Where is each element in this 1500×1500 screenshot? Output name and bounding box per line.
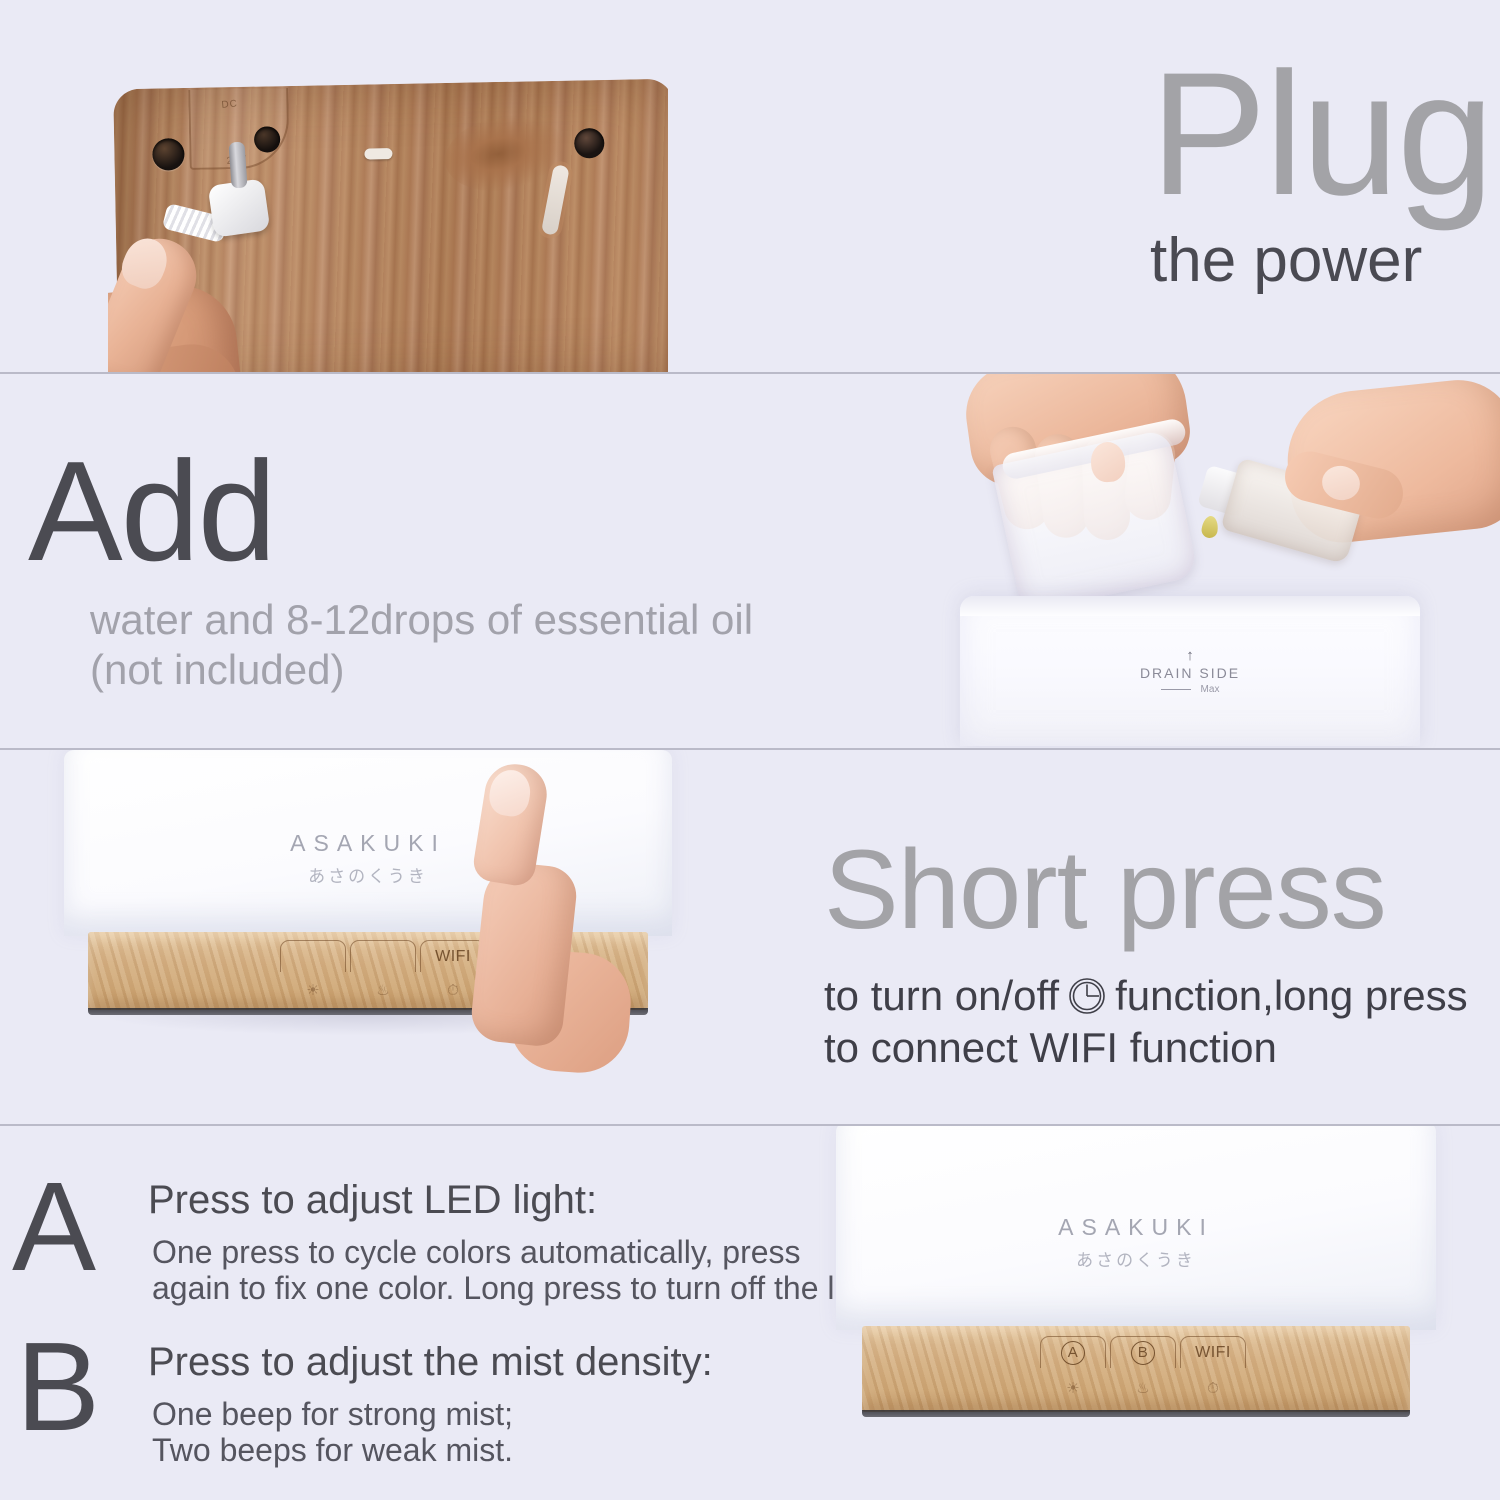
button-a[interactable]: A	[1040, 1336, 1106, 1368]
control-button-row: A B WIFI	[1040, 1336, 1246, 1368]
heading-short-press: Short press	[824, 834, 1386, 946]
heading-add: Add	[28, 448, 275, 576]
text-after-clock-icon: function,long press	[1115, 972, 1468, 1020]
body-led-line-1: One press to cycle colors automatically,…	[152, 1234, 801, 1271]
base-hole-right	[574, 128, 605, 159]
drain-side-marking: ↑ DRAIN SIDE	[960, 648, 1420, 681]
title-adjust-mist-density: Press to adjust the mist density:	[148, 1340, 713, 1385]
up-arrow-icon: ↑	[960, 648, 1420, 663]
body-led-line-2: again to fix one color. Long press to tu…	[152, 1270, 895, 1307]
photo-diffuser-control-panel: ASAKUKI あさのくうき A B WIFI ☀ ♨ ⏱	[836, 1126, 1436, 1452]
base-vent-slot	[364, 148, 392, 160]
finger-pressing-wifi-button	[454, 764, 572, 1064]
product-instruction-infographic: DC 24V Plug the power Add water an	[0, 0, 1500, 1500]
tank-top-bevel	[960, 596, 1420, 616]
board-engraving-dc: DC	[221, 98, 238, 110]
photo-plug-power-adapter: DC 24V	[108, 78, 668, 372]
add-body-line-2: (not included)	[90, 646, 344, 694]
brand-name-jp: あさのくうき	[836, 1246, 1436, 1271]
max-water-line: Max	[960, 684, 1420, 695]
drain-side-label: DRAIN SIDE	[960, 665, 1420, 681]
label-big-a: A	[12, 1164, 96, 1290]
photo-hand-pouring-essential-oil	[1218, 374, 1500, 620]
control-glyph-row: ☀ ♨ ⏱	[1040, 1376, 1246, 1400]
water-tank-front: ↑ DRAIN SIDE Max	[960, 596, 1420, 746]
photo-diffuser-wifi-button-press: ASAKUKI あさのくうき WIFI ☀ ♨ ⏱	[64, 750, 672, 1050]
add-body-line-1: water and 8-12drops of essential oil	[90, 596, 753, 644]
title-adjust-led-light: Press to adjust LED light:	[148, 1178, 597, 1223]
brand-name-jp: あさのくうき	[64, 862, 672, 887]
body-mist-line-2: Two beeps for weak mist.	[152, 1432, 513, 1469]
button-a[interactable]	[280, 940, 346, 972]
text-before-clock-icon: to turn on/off	[824, 972, 1059, 1020]
section-ab-buttons: A Press to adjust LED light: One press t…	[0, 1126, 1500, 1500]
subheading-the-power: the power	[1150, 230, 1422, 292]
finger-middle	[469, 860, 579, 1049]
led-light-icon: ☀	[1040, 1376, 1106, 1400]
led-light-icon: ☀	[280, 978, 346, 1002]
clock-icon	[1067, 976, 1107, 1016]
button-a-label: A	[1061, 1341, 1085, 1365]
button-wifi[interactable]: WIFI	[1180, 1336, 1246, 1368]
photo-hand-holding-measuring-cup	[915, 374, 1245, 624]
diffuser-white-cover: ASAKUKI あさのくうき	[64, 750, 672, 936]
section-plug: DC 24V Plug the power	[0, 0, 1500, 372]
button-b-label: B	[1131, 1341, 1155, 1365]
mist-icon: ♨	[350, 978, 416, 1002]
diffuser-white-cover: ASAKUKI あさのくうき	[836, 1126, 1436, 1330]
label-big-b: B	[16, 1324, 100, 1450]
section-short-press: ASAKUKI あさのくうき WIFI ☀ ♨ ⏱	[0, 750, 1500, 1124]
brand-logo: ASAKUKI あさのくうき	[64, 830, 672, 887]
base-hole-left	[152, 138, 185, 171]
body-mist-line-1: One beep for strong mist;	[152, 1396, 513, 1433]
heading-plug: Plug	[1150, 54, 1492, 215]
mist-icon: ♨	[1110, 1376, 1176, 1400]
max-label: Max	[1201, 684, 1220, 695]
diffuser-wood-base: A B WIFI ☀ ♨ ⏱	[862, 1326, 1410, 1412]
short-press-body-line-2: to connect WIFI function	[824, 1024, 1277, 1072]
brand-name-en: ASAKUKI	[64, 830, 672, 857]
section-add: Add water and 8-12drops of essential oil…	[0, 374, 1500, 748]
base-shadow-line	[862, 1410, 1410, 1417]
timer-icon: ⏱	[1180, 1376, 1246, 1400]
brand-name-en: ASAKUKI	[836, 1214, 1436, 1241]
button-b[interactable]: B	[1110, 1336, 1176, 1368]
hand-holding-plug	[108, 228, 358, 372]
button-b[interactable]	[350, 940, 416, 972]
brand-logo: ASAKUKI あさのくうき	[836, 1214, 1436, 1271]
max-line-dash	[1161, 689, 1191, 690]
short-press-body-line-1: to turn on/off function,long press	[824, 972, 1468, 1020]
power-plug-tip	[228, 141, 247, 188]
